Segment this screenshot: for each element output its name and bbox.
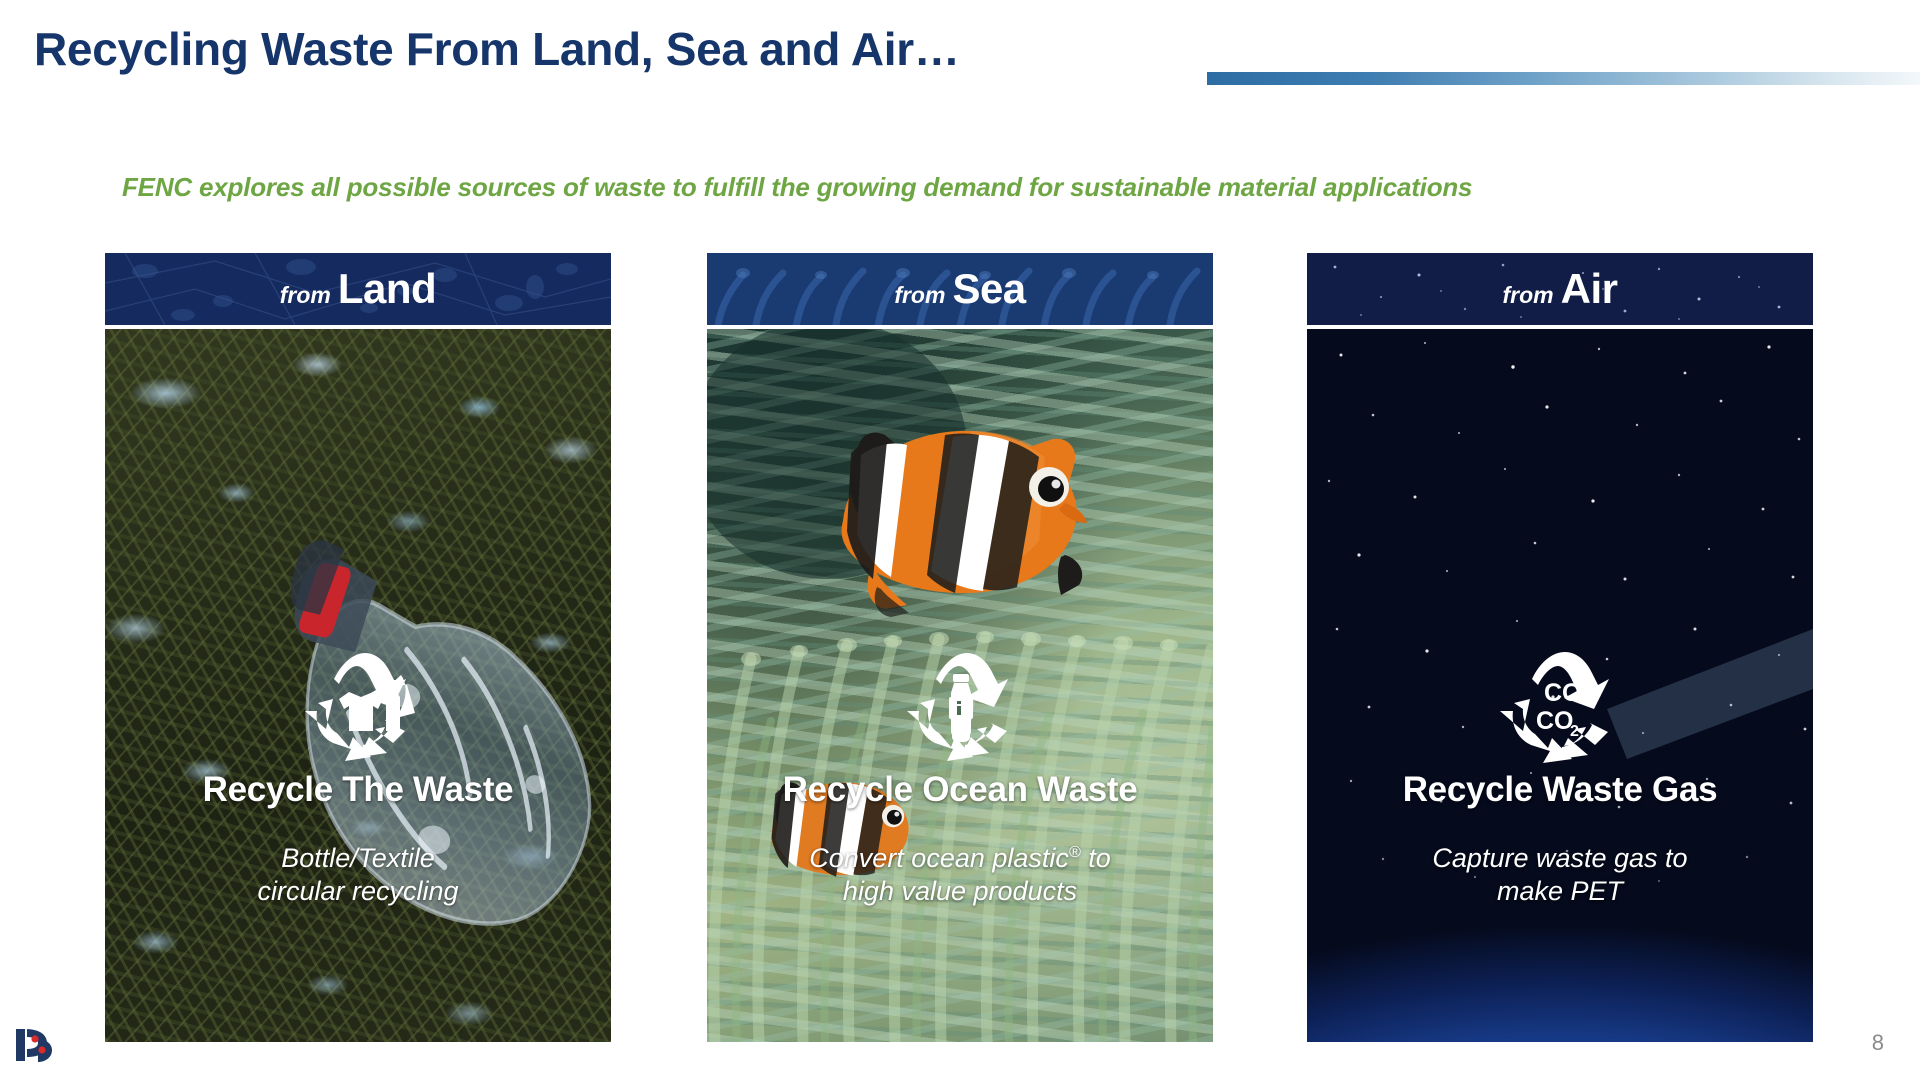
caption-line2-land: circular recycling	[257, 876, 458, 906]
caption-line1-sea-post: to	[1081, 843, 1111, 873]
caption-title-sea: Recycle Ocean Waste	[707, 771, 1213, 810]
source-label-land: Land	[338, 265, 436, 312]
source-card-air[interactable]: fromAir	[1307, 253, 1813, 1038]
svg-text:CO: CO	[1544, 679, 1582, 707]
caption-subtext-sea: Convert ocean plastic® to high value pro…	[707, 842, 1213, 910]
card-header-label-sea: fromSea	[894, 268, 1025, 310]
caption-title-land: Recycle The Waste	[105, 771, 611, 810]
card-body-land: Recycle The Waste Bottle/Textile circula…	[105, 329, 611, 1042]
caption-title-air: Recycle Waste Gas	[1307, 771, 1813, 810]
card-header-label-air: fromAir	[1503, 268, 1618, 310]
registered-trademark-symbol: ®	[1069, 844, 1081, 861]
card-caption-land: Recycle The Waste Bottle/Textile circula…	[105, 771, 611, 909]
slide-header: Recycling Waste From Land, Sea and Air…	[0, 22, 1920, 92]
page-number: 8	[1872, 1030, 1884, 1056]
svg-text:CO: CO	[1536, 707, 1574, 735]
recycle-bottle-icon	[895, 639, 1025, 772]
caption-line2-sea: high value products	[843, 876, 1077, 906]
card-body-air: CO CO 2 Recycle Waste Gas Capture waste …	[1307, 329, 1813, 1042]
from-label-land: from	[280, 282, 331, 308]
caption-line1-air: Capture waste gas to	[1432, 843, 1687, 873]
card-body-sea: Recycle Ocean Waste Convert ocean plasti…	[707, 329, 1213, 1042]
from-label-air: from	[1503, 282, 1554, 308]
source-label-air: Air	[1561, 265, 1618, 312]
fenc-logo	[14, 1019, 60, 1065]
card-header-sea: fromSea	[707, 253, 1213, 325]
card-header-land: fromLand	[105, 253, 611, 325]
from-label-sea: from	[894, 282, 945, 308]
caption-line1-land: Bottle/Textile	[281, 843, 435, 873]
card-header-air: fromAir	[1307, 253, 1813, 325]
recycle-co2-icon: CO CO 2	[1492, 641, 1628, 768]
source-card-sea[interactable]: fromSea	[707, 253, 1213, 1038]
page-title: Recycling Waste From Land, Sea and Air…	[34, 22, 960, 76]
recycle-tshirt-bottle-icon	[293, 639, 423, 772]
card-header-label-land: fromLand	[280, 268, 436, 310]
slide-subtitle: FENC explores all possible sources of wa…	[122, 172, 1822, 203]
source-label-sea: Sea	[952, 265, 1025, 312]
caption-line2-air: make PET	[1497, 876, 1623, 906]
card-caption-sea: Recycle Ocean Waste Convert ocean plasti…	[707, 771, 1213, 909]
caption-subtext-air: Capture waste gas to make PET	[1307, 842, 1813, 910]
caption-subtext-land: Bottle/Textile circular recycling	[105, 842, 611, 910]
source-card-land[interactable]: fromLand	[105, 253, 611, 1038]
title-gradient-rule	[1207, 72, 1920, 85]
svg-text:2: 2	[1570, 723, 1579, 740]
card-caption-air: Recycle Waste Gas Capture waste gas to m…	[1307, 771, 1813, 909]
caption-line1-sea-pre: Convert ocean plastic	[809, 843, 1069, 873]
